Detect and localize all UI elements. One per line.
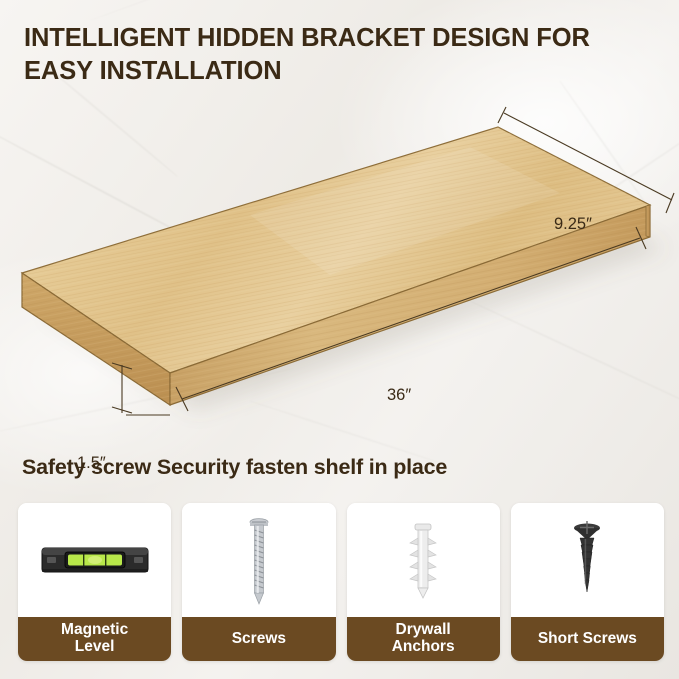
marble-vein	[90, 0, 203, 21]
accessory-card-drywall-anchors[interactable]: Drywall Anchors	[347, 503, 500, 661]
accessory-image	[511, 503, 664, 617]
dimension-depth-label: 9.25″	[554, 215, 592, 234]
section-subtitle: Safety screw Security fasten shelf in pl…	[22, 455, 447, 480]
accessory-label: Screws	[182, 617, 335, 661]
accessory-image	[347, 503, 500, 617]
accessory-image	[182, 503, 335, 617]
accessory-card-short-screws[interactable]: Short Screws	[511, 503, 664, 661]
accessory-label: Short Screws	[511, 617, 664, 661]
dimension-length-label: 36″	[387, 386, 411, 405]
accessory-card-screws[interactable]: Screws	[182, 503, 335, 661]
product-infographic: INTELLIGENT HIDDEN BRACKET DESIGN FOR EA…	[0, 0, 679, 679]
short-screw-icon	[564, 518, 610, 602]
accessory-image	[18, 503, 171, 617]
accessory-card-magnetic-level[interactable]: Magnetic Level	[18, 503, 171, 661]
page-title: INTELLIGENT HIDDEN BRACKET DESIGN FOR EA…	[24, 22, 664, 88]
drywall-anchor-icon	[401, 518, 445, 602]
spirit-level-icon	[39, 535, 151, 585]
shelf-illustration: 9.25″ 36″ 1.5″	[0, 95, 679, 430]
accessory-label: Drywall Anchors	[347, 617, 500, 661]
shelf-right-edge	[646, 205, 650, 237]
screw-icon	[239, 514, 279, 606]
accessory-label: Magnetic Level	[18, 617, 171, 661]
accessory-card-list: Magnetic Level	[18, 503, 664, 661]
